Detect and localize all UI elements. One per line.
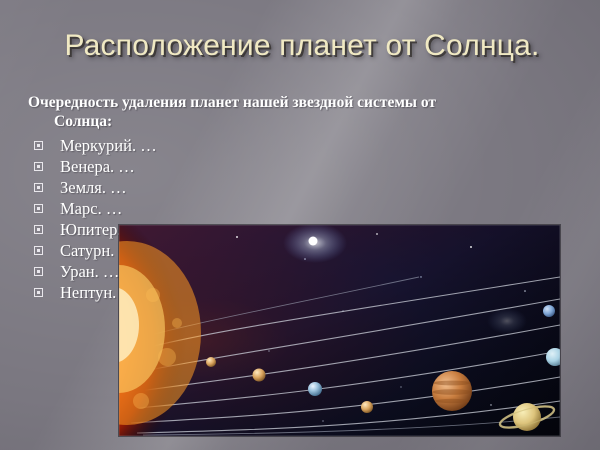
solar-system-photo (119, 225, 560, 436)
planet-mercury (206, 357, 216, 367)
planet-mars (361, 401, 373, 413)
list-item: Меркурий. … (28, 135, 458, 156)
planet-venus (253, 369, 266, 382)
solar-system-illustration (119, 225, 560, 436)
list-item-label: Меркурий. … (60, 136, 157, 155)
square-bullet-icon (34, 267, 43, 276)
square-bullet-icon (34, 183, 43, 192)
list-item-label: Венера. … (60, 157, 135, 176)
planet-neptune (543, 305, 555, 317)
list-item-label: Земля. … (60, 178, 127, 197)
list-item: Земля. … (28, 177, 458, 198)
square-bullet-icon (34, 162, 43, 171)
list-item: Венера. … (28, 156, 458, 177)
planet-earth (308, 382, 322, 396)
list-item-label: Уран. … (60, 262, 119, 281)
list-item-label: Марс. … (60, 199, 122, 218)
square-bullet-icon (34, 225, 43, 234)
square-bullet-icon (34, 141, 43, 150)
square-bullet-icon (34, 288, 43, 297)
square-bullet-icon (34, 204, 43, 213)
lead-line-2: Солнца: (28, 112, 458, 131)
slide-title: Расположение планет от Солнца. (26, 26, 578, 66)
lead-paragraph: Очередность удаления планет нашей звездн… (28, 93, 458, 131)
lead-line-1: Очередность удаления планет нашей звездн… (28, 94, 436, 111)
list-item: Марс. … (28, 198, 458, 219)
presentation-slide: Расположение планет от Солнца. Очереднос… (0, 0, 600, 450)
square-bullet-icon (34, 246, 43, 255)
